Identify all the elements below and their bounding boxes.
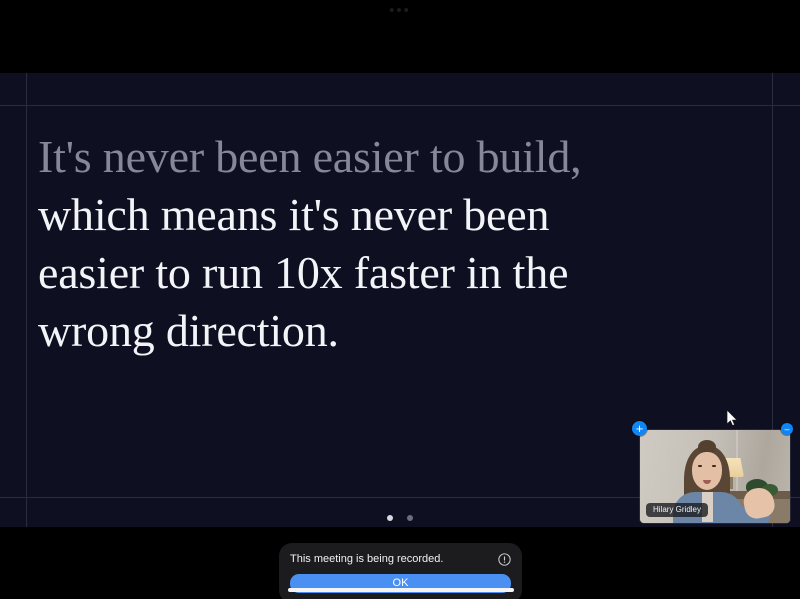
pagination-dot-1[interactable] (387, 515, 393, 521)
slide-line-3: easier to run 10x faster in the (38, 244, 738, 302)
collapse-tile-button[interactable]: – (781, 423, 793, 435)
top-letterbox: ••• (0, 0, 800, 73)
slide-line-4: wrong direction. (38, 302, 738, 360)
slide-line-2: which means it's never been (38, 186, 738, 244)
home-indicator[interactable] (288, 588, 514, 592)
add-participant-button[interactable]: + (632, 421, 647, 436)
more-options-icon[interactable]: ••• (0, 4, 800, 18)
slide-line-1: It's never been easier to build, (38, 128, 738, 186)
participant-eye-right (712, 465, 716, 467)
recording-alert-message: This meeting is being recorded. (290, 552, 443, 566)
screen-root: ••• It's never been easier to build, whi… (0, 0, 800, 599)
participant-eye-left (698, 465, 702, 467)
plus-icon: + (636, 422, 644, 435)
guide-line-left (26, 73, 27, 527)
self-view-video-tile[interactable]: Hilary Gridley (640, 430, 790, 523)
minus-icon: – (784, 425, 789, 434)
participant-face (692, 452, 722, 490)
pagination-dot-2[interactable] (407, 515, 413, 521)
participant-nameplate: Hilary Gridley (646, 503, 708, 517)
slide-quote: It's never been easier to build, which m… (38, 128, 738, 360)
info-icon[interactable] (498, 553, 511, 566)
guide-line-top (0, 105, 800, 106)
mouse-cursor (726, 410, 738, 426)
alert-header-row: This meeting is being recorded. (290, 552, 511, 566)
